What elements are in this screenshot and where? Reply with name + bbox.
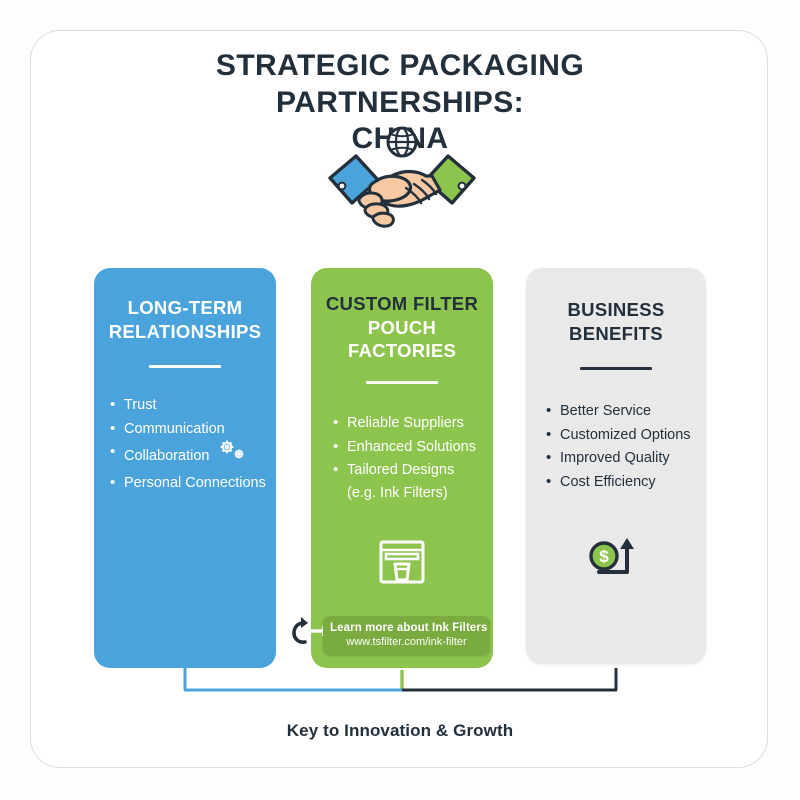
connector-lines <box>0 660 800 720</box>
dollar-growth-icon-wrap: $ <box>526 532 706 585</box>
bullet-text: Customized Options <box>560 427 691 443</box>
card-heading-line-1: Business <box>534 298 698 322</box>
handshake-globe-icon <box>322 126 482 234</box>
bullet-text: Enhanced Solutions <box>347 439 476 455</box>
list-item: Enhanced Solutions <box>333 436 493 459</box>
list-item: Cost Efficiency <box>546 471 706 494</box>
page-title-line-1: Strategic Packaging Partnerships: <box>216 49 584 119</box>
card-heading-line-2: Benefits <box>534 322 698 346</box>
card-divider <box>366 381 438 384</box>
card-divider <box>149 365 221 368</box>
card-business-benefits: Business Benefits Better Service Customi… <box>526 268 706 664</box>
card-divider <box>580 367 652 370</box>
card-heading-long-term-relationships: Long-Term Relationships <box>94 296 276 343</box>
card-heading-business-benefits: Business Benefits <box>526 298 706 345</box>
list-item: Collaboration <box>110 441 276 471</box>
refresh-arrow-icon <box>294 617 308 642</box>
card-heading-line-1: Custom Filter <box>319 292 485 316</box>
svg-text:$: $ <box>599 547 609 566</box>
bullet-text: Tailored Designs <box>347 462 454 478</box>
card-heading-line-2: Pouch <box>319 316 485 340</box>
list-item-sub: (e.g. Ink Filters) <box>333 482 493 505</box>
list-item: Tailored Designs <box>333 459 493 482</box>
card-heading-line-2: Relationships <box>102 320 268 344</box>
bullet-text: Communication <box>124 421 225 437</box>
learn-more-callout[interactable]: Learn more about Ink Filters www.tsfilte… <box>323 616 490 655</box>
bullet-text: Better Service <box>560 403 651 419</box>
card-heading-line-3: Factories <box>319 339 485 363</box>
list-item: Communication <box>110 418 276 441</box>
list-item: Customized Options <box>546 424 706 447</box>
card-heading-line-1: Long-Term <box>102 296 268 320</box>
list-item: Personal Connections <box>110 472 276 495</box>
filter-pouch-icon-wrap <box>311 536 493 593</box>
card-heading-custom-filter-pouch-factories: Custom Filter Pouch Factories <box>311 292 493 363</box>
infographic-canvas: Strategic Packaging Partnerships: China <box>0 0 800 800</box>
bullet-text: Personal Connections <box>124 475 266 491</box>
filter-pouch-icon <box>376 536 428 593</box>
bullet-text: Cost Efficiency <box>560 474 656 490</box>
bullet-list-long-term-relationships: Trust Communication Collaboration <box>110 394 276 495</box>
list-item: Trust <box>110 394 276 417</box>
list-item: Better Service <box>546 400 706 423</box>
bullet-text: (e.g. Ink Filters) <box>347 485 448 501</box>
bullet-text: Improved Quality <box>560 450 670 466</box>
bullet-list-business-benefits: Better Service Customized Options Improv… <box>546 400 706 494</box>
dollar-growth-icon: $ <box>587 532 645 585</box>
list-item: Improved Quality <box>546 447 706 470</box>
callout-title: Learn more about Ink Filters <box>330 622 483 634</box>
bullet-text: Trust <box>124 397 157 413</box>
bullet-text: Collaboration <box>124 448 209 464</box>
globe-icon <box>388 128 416 156</box>
card-long-term-relationships: Long-Term Relationships Trust Communicat… <box>94 268 276 668</box>
bullet-list-custom-filter-pouch-factories: Reliable Suppliers Enhanced Solutions Ta… <box>333 412 493 506</box>
list-item: Reliable Suppliers <box>333 412 493 435</box>
callout-url[interactable]: www.tsfilter.com/ink-filter <box>330 636 483 648</box>
card-custom-filter-pouch-factories: Custom Filter Pouch Factories Reliable S… <box>311 268 493 668</box>
bullet-text: Reliable Suppliers <box>347 415 464 431</box>
gears-icon <box>217 439 247 469</box>
footer-caption: Key to Innovation & Growth <box>100 721 700 741</box>
